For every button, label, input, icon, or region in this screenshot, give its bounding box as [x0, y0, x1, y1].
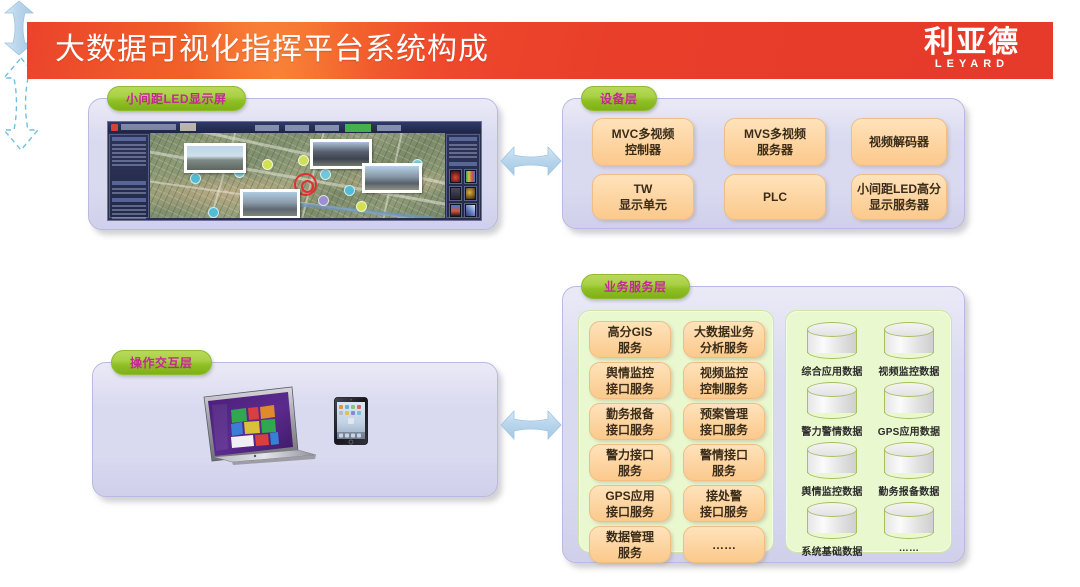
database-cylinder-icon	[884, 442, 934, 478]
box-line: 接口服务	[606, 504, 654, 520]
db-video-monitor[interactable]: 视频监控数据	[866, 322, 952, 378]
service-box-more[interactable]: ……	[683, 526, 765, 563]
databases-group-panel: 综合应用数据 视频监控数据 警力警情数据 GPS应用数据	[785, 310, 952, 553]
camera-thumbnail	[313, 142, 369, 166]
left-panel-header	[112, 181, 146, 185]
layer-tab-business-layer: 业务服务层	[581, 274, 690, 299]
box-line: 接口服务	[700, 504, 748, 520]
left-panel-header	[112, 198, 146, 202]
db-label: 勤务报备数据	[866, 483, 952, 498]
left-panel-row	[112, 209, 146, 211]
left-panel-row	[112, 152, 146, 154]
device-box-plc[interactable]: PLC	[724, 174, 826, 220]
right-panel-header	[449, 162, 477, 166]
app-title-text	[121, 124, 176, 130]
map-camera-popup	[362, 163, 422, 193]
right-panel-header	[449, 137, 477, 141]
device-box-video-decoder[interactable]: 视频解码器	[851, 118, 947, 166]
db-public-opinion[interactable]: 舆情监控数据	[789, 442, 875, 498]
map-poi-marker	[208, 207, 219, 218]
left-panel-header	[112, 137, 146, 141]
box-line: 警情接口	[700, 447, 748, 463]
box-line: 控制器	[625, 142, 661, 158]
database-cylinder-icon	[807, 322, 857, 358]
db-police-force-case[interactable]: 警力警情数据	[789, 382, 875, 438]
box-line: 警力接口	[606, 447, 654, 463]
laptop-svg	[198, 385, 328, 465]
box-line: GPS应用	[605, 488, 654, 504]
slide-canvas: 大数据可视化指挥平台系统构成 利亚德 LEYARD 小间距LED显示屏	[0, 0, 1080, 587]
brand-logo-cn: 利亚德	[907, 27, 1037, 59]
laptop-device-icon	[198, 385, 328, 465]
led-screen-mockup	[107, 121, 482, 221]
left-panel-row	[112, 156, 146, 158]
db-label: 警力警情数据	[789, 423, 875, 438]
box-line: 数据管理	[606, 529, 654, 545]
device-box-led-hd-server[interactable]: 小间距LED高分 显示服务器	[851, 174, 947, 220]
db-system-base[interactable]: 系统基础数据	[789, 502, 875, 558]
gis-3d-map	[150, 133, 445, 218]
db-label: ……	[866, 543, 952, 554]
left-panel-row	[112, 213, 146, 215]
box-line: 高分GIS	[608, 324, 653, 340]
right-panel-row	[449, 156, 477, 158]
layer-tab-operation-layer: 操作交互层	[111, 350, 212, 375]
camera-thumbnail	[187, 146, 243, 170]
box-line: TW	[634, 181, 653, 197]
services-group-panel: 高分GIS 服务 大数据业务 分析服务 舆情监控 接口服务 视频监控 控制服务 …	[578, 310, 774, 553]
db-label: 舆情监控数据	[789, 483, 875, 498]
db-comprehensive-app[interactable]: 综合应用数据	[789, 322, 875, 378]
right-panel-row	[449, 144, 477, 146]
map-poi-marker	[262, 159, 273, 170]
device-box-mvc-controller[interactable]: MVC多视频 控制器	[592, 118, 694, 166]
left-panel-row	[112, 192, 146, 194]
database-cylinder-icon	[884, 382, 934, 418]
box-line: 接口服务	[700, 422, 748, 438]
box-line: 接口服务	[606, 422, 654, 438]
db-duty-report[interactable]: 勤务报备数据	[866, 442, 952, 498]
box-line: 小间距LED高分	[857, 181, 941, 197]
left-panel-row	[112, 188, 146, 190]
left-panel-row	[112, 164, 146, 166]
panel-operation-layer: 操作交互层	[92, 362, 498, 497]
db-label: 系统基础数据	[789, 543, 875, 558]
map-poi-marker	[298, 155, 309, 166]
service-box-gps-app[interactable]: GPS应用 接口服务	[589, 485, 671, 522]
db-gps-app[interactable]: GPS应用数据	[866, 382, 952, 438]
page-title: 大数据可视化指挥平台系统构成	[55, 30, 489, 70]
database-cylinder-icon	[807, 502, 857, 538]
map-poi-marker	[356, 201, 367, 212]
panel-led-display: 小间距LED显示屏	[88, 98, 498, 230]
service-box-data-management[interactable]: 数据管理 服务	[589, 526, 671, 563]
db-label: 综合应用数据	[789, 363, 875, 378]
database-cylinder-icon	[807, 442, 857, 478]
tablet-svg	[334, 397, 368, 445]
box-line: 视频监控	[700, 365, 748, 381]
box-line: PLC	[763, 189, 787, 205]
menu-item-1	[255, 125, 279, 131]
camera-thumbnail	[243, 192, 297, 216]
video-thumbnail	[464, 186, 477, 201]
menu-item-5	[377, 125, 401, 131]
service-box-bigdata-analysis[interactable]: 大数据业务 分析服务	[683, 321, 765, 358]
box-line: 服务	[618, 463, 642, 479]
box-line: 服务器	[757, 142, 793, 158]
map-poi-marker	[318, 195, 329, 206]
left-panel-row	[112, 205, 146, 207]
service-box-police-force[interactable]: 警力接口 服务	[589, 444, 671, 481]
device-box-mvs-server[interactable]: MVS多视频 服务器	[724, 118, 826, 166]
database-cylinder-icon	[884, 502, 934, 538]
left-panel-row	[112, 148, 146, 150]
service-box-police-case[interactable]: 警情接口 服务	[683, 444, 765, 481]
box-line: 接口服务	[606, 381, 654, 397]
service-box-video-monitor[interactable]: 视频监控 控制服务	[683, 362, 765, 399]
box-line: 预案管理	[700, 406, 748, 422]
box-line: 舆情监控	[606, 365, 654, 381]
service-box-dispatch[interactable]: 接处警 接口服务	[683, 485, 765, 522]
menu-item-2	[285, 125, 309, 131]
right-panel-row	[449, 152, 477, 154]
right-panel-row	[449, 148, 477, 150]
service-box-plan-management[interactable]: 预案管理 接口服务	[683, 403, 765, 440]
box-line: 大数据业务	[694, 324, 754, 340]
box-line: 接处警	[706, 488, 742, 504]
box-line: 服务	[712, 463, 736, 479]
menu-item-4-active	[345, 124, 371, 132]
slide-header: 大数据可视化指挥平台系统构成 利亚德 LEYARD	[27, 22, 1053, 79]
map-poi-marker	[320, 169, 331, 180]
service-box-duty-report[interactable]: 勤务报备 接口服务	[589, 403, 671, 440]
service-box-gis[interactable]: 高分GIS 服务	[589, 321, 671, 358]
layer-tab-led-display: 小间距LED显示屏	[107, 86, 246, 111]
box-line: MVC多视频	[612, 126, 675, 142]
box-line: 分析服务	[700, 340, 748, 356]
box-line: 服务	[618, 545, 642, 561]
app-left-panel	[109, 134, 149, 218]
map-camera-popup	[240, 189, 300, 218]
video-thumbnail	[464, 203, 477, 218]
video-thumbnail	[449, 203, 462, 218]
video-thumbnail	[449, 169, 462, 184]
app-title-cn	[180, 123, 196, 131]
panel-business-layer: 业务服务层 高分GIS 服务 大数据业务 分析服务 舆情监控 接口服务 视频监控…	[562, 286, 965, 563]
database-cylinder-icon	[884, 322, 934, 358]
box-line: MVS多视频	[744, 126, 806, 142]
panel-device-layer: 设备层 MVC多视频 控制器 MVS多视频 服务器 视频解码器 TW 显示单元 …	[562, 98, 965, 229]
map-poi-marker	[344, 185, 355, 196]
left-panel-row	[112, 160, 146, 162]
arrow-operation-to-business	[500, 406, 562, 444]
tablet-device-icon	[334, 397, 368, 445]
map-camera-popup	[184, 143, 246, 173]
service-box-public-opinion[interactable]: 舆情监控 接口服务	[589, 362, 671, 399]
app-right-panel	[446, 134, 480, 218]
arrow-led-to-device	[500, 142, 562, 180]
map-poi-marker	[190, 173, 201, 184]
box-line: 显示单元	[619, 197, 667, 213]
layer-tab-device-layer: 设备层	[581, 86, 657, 111]
box-line: ……	[712, 537, 736, 553]
box-line: 服务	[618, 340, 642, 356]
app-logo-icon	[111, 124, 118, 131]
left-panel-row	[112, 217, 146, 219]
box-line: 控制服务	[700, 381, 748, 397]
camera-thumbnail	[365, 166, 419, 190]
menu-item-3	[315, 125, 339, 131]
video-thumbnail	[449, 186, 462, 201]
box-line: 视频解码器	[869, 134, 929, 150]
db-label: 视频监控数据	[866, 363, 952, 378]
brand-logo: 利亚德 LEYARD	[907, 27, 1037, 75]
device-box-tw-display-unit[interactable]: TW 显示单元	[592, 174, 694, 220]
db-more[interactable]: ……	[866, 502, 952, 554]
video-thumbnail	[464, 169, 477, 184]
database-cylinder-icon	[807, 382, 857, 418]
db-label: GPS应用数据	[866, 423, 952, 438]
brand-logo-en: LEYARD	[907, 58, 1037, 71]
left-panel-row	[112, 144, 146, 146]
box-line: 显示服务器	[869, 197, 929, 213]
box-line: 勤务报备	[606, 406, 654, 422]
